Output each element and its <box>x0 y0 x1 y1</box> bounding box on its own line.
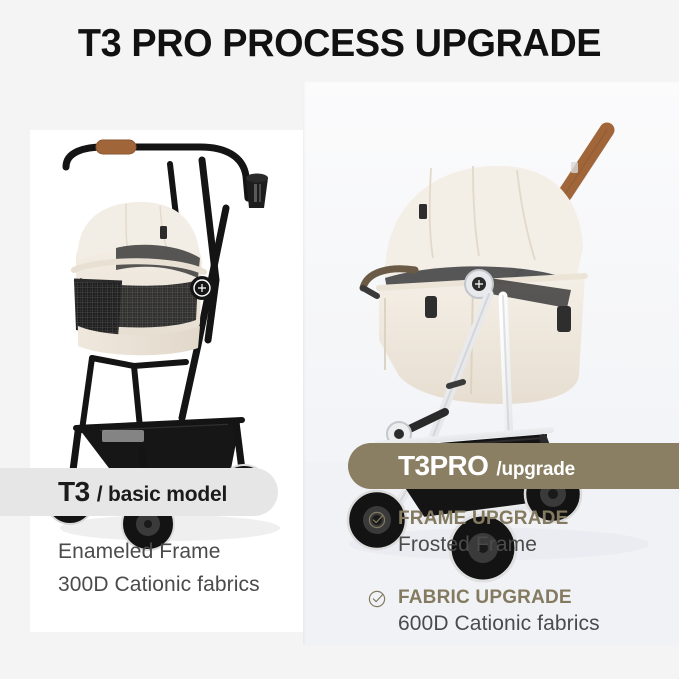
right-feature-list: FRAME UPGRADE Frosted Frame FABRIC UPGRA… <box>368 508 668 666</box>
left-spec-item: Enameled Frame <box>58 535 298 568</box>
check-circle-icon <box>368 589 387 608</box>
left-spec-item: 300D Cationic fabrics <box>58 568 298 601</box>
feature-detail: Frosted Frame <box>398 533 668 557</box>
feature-fabric-upgrade: FABRIC UPGRADE 600D Cationic fabrics <box>368 587 668 636</box>
right-model-suffix: /upgrade <box>496 459 575 481</box>
feature-title: FABRIC UPGRADE <box>398 587 572 609</box>
left-spec-list: Enameled Frame 300D Cationic fabrics <box>58 535 298 601</box>
left-model-name: T3 <box>58 476 90 508</box>
feature-frame-upgrade: FRAME UPGRADE Frosted Frame <box>368 508 668 557</box>
left-model-suffix: / basic model <box>97 483 227 507</box>
right-model-name: T3PRO <box>398 450 488 482</box>
comparison-infographic: T3 PRO PROCESS UPGRADE <box>0 0 679 679</box>
check-circle-icon <box>368 510 387 529</box>
feature-detail: 600D Cationic fabrics <box>398 612 668 636</box>
left-model-badge: T3 / basic model <box>0 468 278 516</box>
page-title: T3 PRO PROCESS UPGRADE <box>10 22 669 66</box>
right-model-badge: T3PRO /upgrade <box>348 443 679 489</box>
feature-title: FRAME UPGRADE <box>398 508 568 530</box>
